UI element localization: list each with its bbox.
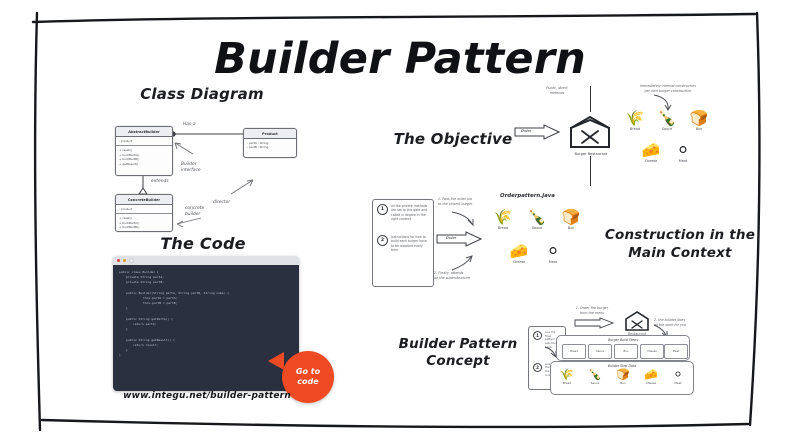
- uml-member: - product: [119, 207, 169, 211]
- ingredient-item: ⚪ Meat: [670, 142, 696, 163]
- section-label-the-objective: The Objective: [378, 130, 528, 148]
- uml-member: + getResult(): [119, 162, 169, 166]
- uml-class-product: Product - partA : String - partB : Strin…: [243, 128, 297, 158]
- uml-members: - product + reset() + buildPartA() + bui…: [116, 205, 172, 232]
- uml-class-abstractbuilder: AbstractBuilder - product + reset() + bu…: [115, 126, 173, 176]
- restaurant-icon: [624, 310, 650, 332]
- annotation-builder-interface: Builder interface: [181, 162, 201, 174]
- poster-canvas: Builder Pattern Class Diagram AbstractBu…: [0, 0, 800, 448]
- step-number: 2: [533, 363, 542, 372]
- bread-icon: 🌾: [555, 369, 579, 381]
- numbered-steps-card: 1 all the private methods are set to thi…: [372, 199, 434, 287]
- annotation-director: director: [213, 200, 230, 206]
- objective-diagram: Public, direct methods Immediately inter…: [510, 86, 720, 186]
- meat-icon: ⚪: [666, 369, 690, 381]
- step-text: all the private methods are set to this …: [391, 204, 429, 221]
- annotation-concrete-builder: concrete builder: [185, 206, 204, 218]
- cheese-icon: 🧀: [638, 142, 664, 158]
- step-number: 1: [533, 331, 542, 340]
- step-number: 2: [377, 235, 388, 246]
- order-arrow: [574, 317, 614, 329]
- builder-step-data-title: Builder Step Data: [551, 364, 693, 368]
- bun-icon: 🍞: [686, 110, 712, 126]
- ingredient-item: 🌾 Bread: [622, 110, 648, 131]
- close-icon[interactable]: [117, 259, 120, 262]
- order-arrow-label: Order: [446, 236, 456, 240]
- step-text: instructions for how to build each burge…: [391, 235, 429, 252]
- uml-class-name: AbstractBuilder: [116, 127, 172, 137]
- construction-heading: Orderpattern.java: [500, 193, 555, 199]
- builder-step-data-group: Builder Step Data 🌾 Bread 🍾 Sauce 🍞 Bun …: [550, 361, 694, 395]
- numbered-item: 1 all the private methods are set to thi…: [373, 200, 433, 221]
- uml-members: - partA : String - partB : String: [244, 139, 296, 152]
- ingredient-item: 🍾 Sauce: [654, 110, 680, 131]
- curved-arrow-icon: [450, 211, 476, 227]
- section-label-the-code: The Code: [118, 234, 288, 253]
- bun-icon: 🍞: [558, 209, 584, 225]
- restaurant-icon: [568, 114, 612, 150]
- ingredient-item: 🍾 Sauce: [583, 369, 607, 385]
- badge-tail: [268, 352, 284, 370]
- uml-member: - product: [119, 139, 169, 143]
- ingredient-item: 🍞 Bun: [558, 209, 584, 230]
- uml-member: - partB : String: [247, 145, 293, 149]
- uml-members: - product + reset() + buildPartA() + bui…: [116, 137, 172, 168]
- uml-class-name: ConcreteBuilder: [116, 195, 172, 205]
- note-public-methods: Public, direct methods: [532, 86, 582, 95]
- divider-line: [590, 156, 591, 186]
- section-label-class-diagram: Class Diagram: [112, 85, 292, 103]
- curved-arrow-icon: [450, 255, 474, 271]
- class-diagram: AbstractBuilder - product + reset() + bu…: [105, 110, 320, 235]
- section-label-concept: Builder Pattern Concept: [382, 336, 534, 370]
- ingredient-item: 🍾 Sauce: [524, 209, 550, 230]
- cheese-icon: 🧀: [506, 243, 532, 259]
- ingredient-item: 🧀 Cheese: [638, 142, 664, 163]
- section-label-construction: Construction in the Main Context: [596, 226, 764, 262]
- code-area[interactable]: public class Builder { private String pa…: [113, 265, 299, 391]
- sauce-bottle-icon: 🍾: [583, 369, 607, 381]
- code-editor-window[interactable]: public class Builder { private String pa…: [113, 256, 299, 391]
- cheese-icon: 🧀: [639, 369, 663, 381]
- minimize-icon[interactable]: [123, 259, 126, 262]
- note-step-1: 1. Pass the order job to the closest bur…: [438, 197, 500, 206]
- sauce-bottle-icon: 🍾: [524, 209, 550, 225]
- note-internal-constructors: Immediately internal constructors per ow…: [628, 84, 708, 93]
- bread-icon: 🌾: [622, 110, 648, 126]
- note-order-burger: 1. Order the burger from the menu: [568, 306, 616, 315]
- concept-diagram: 1 one the final pattern sets the base 2 …: [528, 308, 706, 408]
- sauce-bottle-icon: 🍾: [654, 110, 680, 126]
- window-titlebar: [113, 256, 299, 265]
- ingredient-item: ⚪ Meat: [666, 369, 690, 385]
- uml-class-name: Product: [244, 129, 296, 139]
- page-title: Builder Pattern: [0, 34, 800, 84]
- ingredient-item: ⚪ Meat: [540, 243, 566, 264]
- uml-class-concretebuilder: ConcreteBuilder - product + reset() + bu…: [115, 194, 173, 232]
- uml-member: + buildPartB(): [119, 225, 169, 229]
- step-cell[interactable]: Sauce: [588, 344, 612, 359]
- ingredient-item: 🧀 Cheese: [506, 243, 532, 264]
- annotation-has-a: Has-a: [183, 122, 196, 128]
- note-step-2: 2. Finally, attends up the superstructur…: [434, 271, 500, 280]
- uml-separator: [116, 213, 172, 214]
- ingredient-item: 🍞 Bun: [611, 369, 635, 385]
- ingredient-item: 🧀 Cheese: [639, 369, 663, 385]
- step-number: 1: [377, 204, 388, 215]
- order-arrow: [436, 231, 482, 247]
- build-steps-group: Burger Build Steps Bread Sauce Bun Chees…: [556, 335, 690, 361]
- divider-line: [590, 86, 591, 112]
- step-cell[interactable]: Cheese: [640, 344, 664, 359]
- order-arrow-label: Order: [521, 129, 531, 133]
- meat-icon: ⚪: [540, 243, 566, 259]
- badge-line-2: code: [297, 377, 318, 387]
- bun-icon: 🍞: [611, 369, 635, 381]
- uml-separator: [116, 145, 172, 146]
- step-cell[interactable]: Meat: [664, 344, 688, 359]
- annotation-extends: extends: [151, 179, 169, 185]
- build-steps-title: Burger Build Steps: [557, 338, 689, 342]
- code-line: }: [119, 353, 293, 358]
- step-cell[interactable]: Bun: [614, 344, 638, 359]
- meat-icon: ⚪: [670, 142, 696, 158]
- zoom-icon[interactable]: [129, 258, 134, 263]
- ingredient-item: 🌾 Bread: [555, 369, 579, 385]
- construction-diagram: 1 all the private methods are set to thi…: [372, 193, 587, 291]
- ingredient-item: 🍞 Bun: [686, 110, 712, 131]
- step-cell[interactable]: Bread: [562, 344, 586, 359]
- restaurant-caption: Burger Restaurant: [552, 152, 630, 156]
- badge-line-1: Go to: [296, 367, 320, 377]
- site-url[interactable]: www.integu.net/builder-pattern: [112, 391, 302, 401]
- ingredient-item: 🌾 Bread: [490, 209, 516, 230]
- numbered-item: 2 instructions for how to build each bur…: [373, 231, 433, 252]
- bread-icon: 🌾: [490, 209, 516, 225]
